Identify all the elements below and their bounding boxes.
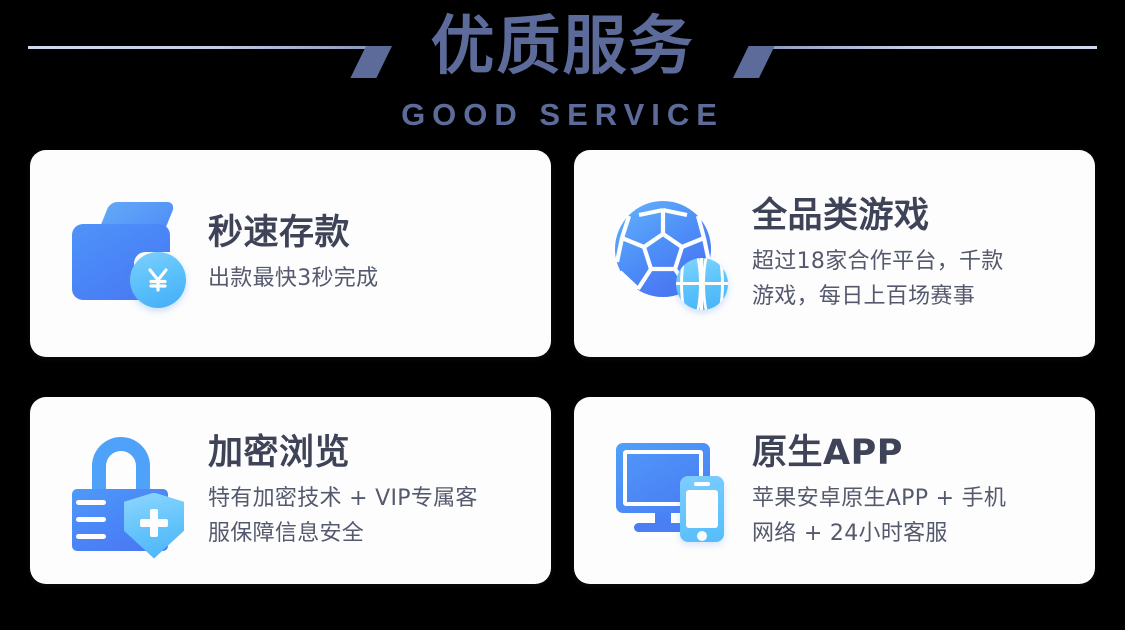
feature-description: 超过18家合作平台，千款 游戏，每日上百场赛事 [752, 244, 1077, 314]
feature-description-line: 特有加密技术 + VIP专属客 [208, 481, 533, 516]
feature-description-line: 游戏，每日上百场赛事 [752, 279, 1077, 314]
lock-shackle-icon [92, 437, 150, 493]
feature-description-line: 网络 + 24小时客服 [752, 516, 1077, 551]
feature-description: 出款最快3秒完成 [208, 261, 533, 296]
feature-title: 加密浏览 [208, 431, 533, 475]
feature-card-text: 秒速存款 出款最快3秒完成 [208, 211, 551, 296]
feature-description: 苹果安卓原生APP + 手机 网络 + 24小时客服 [752, 481, 1077, 551]
page-subtitle: GOOD SERVICE [0, 97, 1125, 133]
basketball-icon [676, 258, 728, 310]
feature-card-encryption[interactable]: 加密浏览 特有加密技术 + VIP专属客 服保障信息安全 [30, 397, 551, 584]
feature-card-text: 全品类游戏 超过18家合作平台，千款 游戏，每日上百场赛事 [752, 194, 1095, 314]
feature-description-line: 超过18家合作平台，千款 [752, 244, 1077, 279]
feature-card-grid: 秒速存款 出款最快3秒完成 [30, 150, 1095, 584]
monitor-phone-icon [612, 425, 730, 557]
banner-header: 优质服务 GOOD SERVICE [0, 0, 1125, 145]
feature-card-native-app[interactable]: 原生APP 苹果安卓原生APP + 手机 网络 + 24小时客服 [574, 397, 1095, 584]
feature-card-deposit[interactable]: 秒速存款 出款最快3秒完成 [30, 150, 551, 357]
promo-banner: 优质服务 GOOD SERVICE [0, 0, 1125, 630]
yen-coin-icon [130, 252, 186, 308]
feature-title: 秒速存款 [208, 211, 533, 255]
feature-card-text: 原生APP 苹果安卓原生APP + 手机 网络 + 24小时客服 [752, 431, 1095, 551]
phone-icon [680, 476, 724, 542]
feature-description: 特有加密技术 + VIP专属客 服保障信息安全 [208, 481, 533, 551]
feature-description-line: 服保障信息安全 [208, 516, 533, 551]
feature-title: 原生APP [752, 431, 1077, 475]
page-title: 优质服务 [0, 8, 1125, 86]
feature-card-text: 加密浏览 特有加密技术 + VIP专属客 服保障信息安全 [208, 431, 551, 551]
phone-screen-icon [686, 490, 718, 528]
feature-title: 全品类游戏 [752, 194, 1077, 238]
feature-description-line: 苹果安卓原生APP + 手机 [752, 481, 1077, 516]
phone-home-button-icon [697, 531, 707, 541]
phone-speaker-icon [694, 482, 710, 486]
wallet-yen-icon [68, 188, 186, 320]
feature-description-line: 出款最快3秒完成 [208, 261, 533, 296]
lock-shield-icon [68, 425, 186, 557]
feature-card-games[interactable]: 全品类游戏 超过18家合作平台，千款 游戏，每日上百场赛事 [574, 150, 1095, 357]
soccer-basketball-icon [612, 188, 730, 320]
